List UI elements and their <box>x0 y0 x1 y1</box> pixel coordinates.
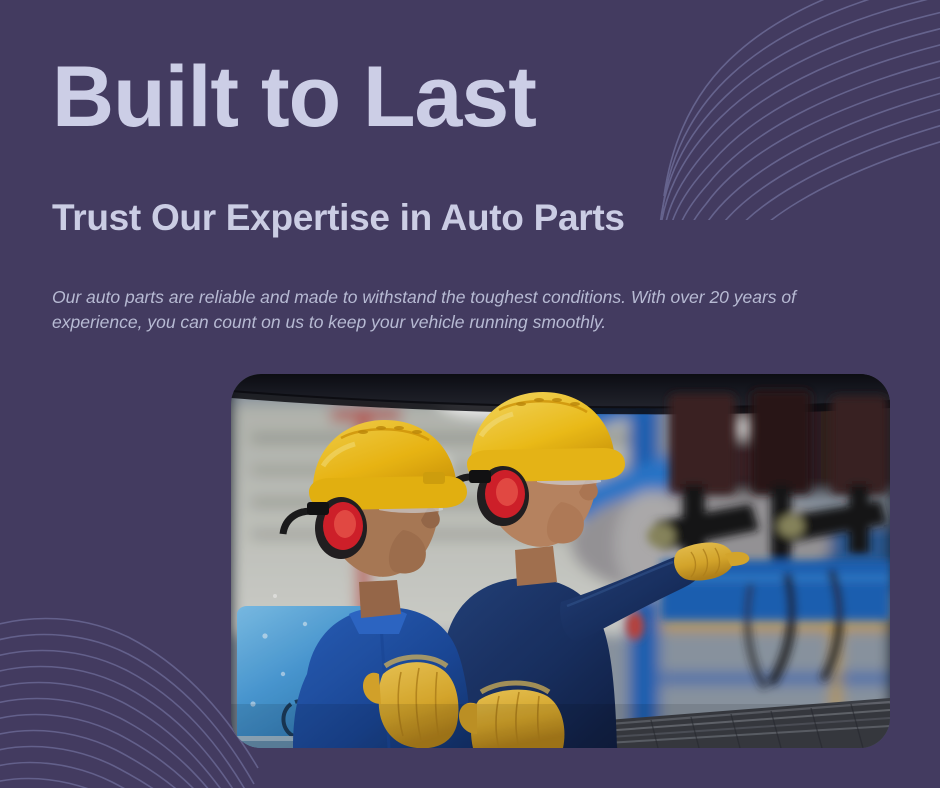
poster-canvas: Built to Last Trust Our Expertise in Aut… <box>0 0 940 788</box>
body-paragraph: Our auto parts are reliable and made to … <box>52 285 872 336</box>
text-block: Built to Last Trust Our Expertise in Aut… <box>52 54 882 335</box>
wave-lines-pattern-icon <box>0 572 270 788</box>
hero-image-frame <box>231 374 890 748</box>
hero-image-workers-photo <box>231 374 890 748</box>
subtitle: Trust Our Expertise in Auto Parts <box>52 198 882 239</box>
page-title: Built to Last <box>52 54 882 140</box>
